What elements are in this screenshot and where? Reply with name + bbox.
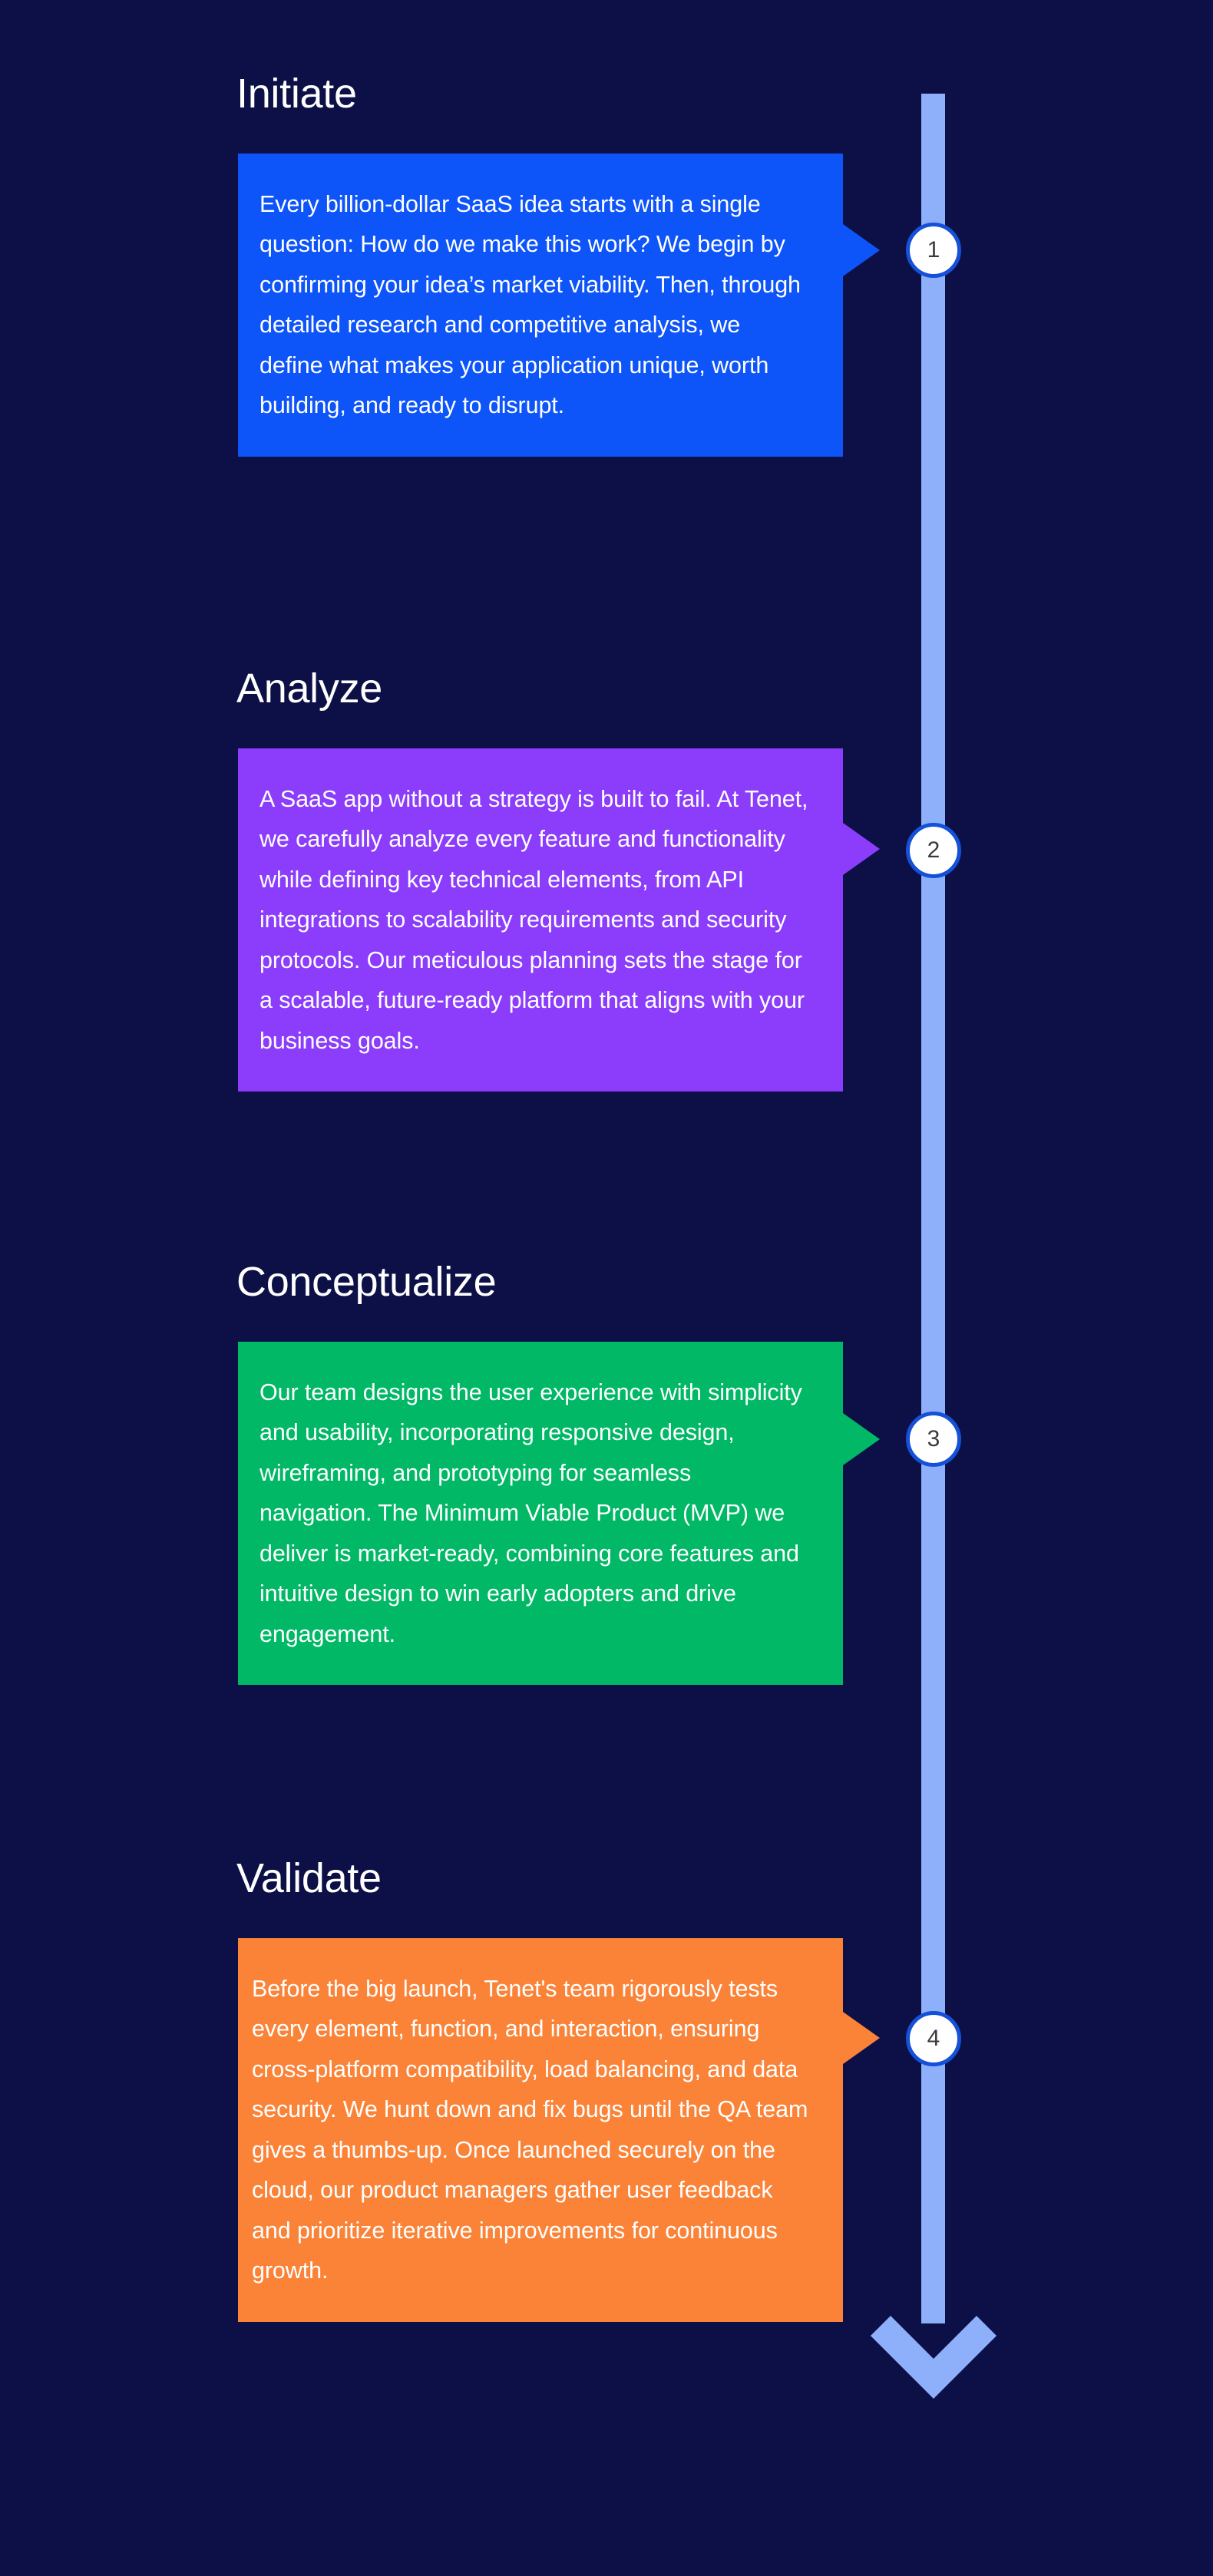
card-pointer-conceptualize: [843, 1413, 880, 1465]
step-body-validate: Before the big launch, Tenet's team rigo…: [252, 1969, 809, 2291]
timeline-marker-2[interactable]: 2: [906, 823, 961, 878]
step-body-analyze: A SaaS app without a strategy is built t…: [259, 779, 809, 1061]
step-title-initiate: Initiate: [236, 73, 357, 114]
card-pointer-analyze: [843, 823, 880, 875]
step-card-validate[interactable]: Before the big launch, Tenet's team rigo…: [238, 1938, 843, 2322]
card-pointer-initiate: [843, 224, 880, 276]
step-title-validate: Validate: [236, 1858, 382, 1899]
step-card-conceptualize[interactable]: Our team designs the user experience wit…: [238, 1342, 843, 1685]
timeline-infographic: Initiate Every billion-dollar SaaS idea …: [0, 0, 1213, 2576]
timeline-arrow-down-icon: [871, 2299, 997, 2399]
timeline-marker-4[interactable]: 4: [906, 2011, 961, 2066]
card-pointer-validate: [843, 2012, 880, 2064]
timeline-marker-3-number: 3: [927, 1428, 940, 1451]
timeline-marker-4-number: 4: [927, 2027, 940, 2050]
timeline-marker-1-number: 1: [927, 239, 940, 262]
timeline-marker-1[interactable]: 1: [906, 223, 961, 278]
step-body-conceptualize: Our team designs the user experience wit…: [259, 1372, 809, 1654]
timeline-marker-2-number: 2: [927, 839, 940, 862]
step-body-initiate: Every billion-dollar SaaS idea starts wi…: [259, 184, 809, 426]
step-card-initiate[interactable]: Every billion-dollar SaaS idea starts wi…: [238, 154, 843, 457]
step-title-conceptualize: Conceptualize: [236, 1261, 496, 1303]
timeline-marker-3[interactable]: 3: [906, 1412, 961, 1467]
step-card-analyze[interactable]: A SaaS app without a strategy is built t…: [238, 748, 843, 1091]
step-title-analyze: Analyze: [236, 668, 382, 709]
timeline-line: [921, 94, 945, 2323]
